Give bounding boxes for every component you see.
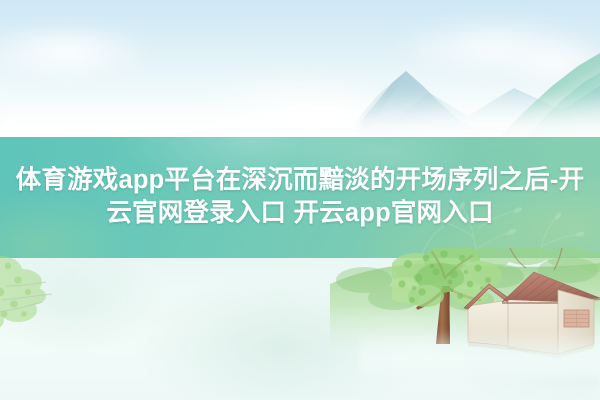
scene-haze <box>360 330 600 376</box>
page-title: 体育游戏app平台在深沉而黯淡的开场序列之后-开 云官网登录入口 开云app官网… <box>0 164 600 230</box>
foliage-left <box>0 252 94 347</box>
screenshot-canvas: 体育游戏app平台在深沉而黯淡的开场序列之后-开 云官网登录入口 开云app官网… <box>0 0 600 400</box>
page-title-line-2: 云官网登录入口 开云app官网入口 <box>4 197 596 230</box>
page-title-line-1: 体育游戏app平台在深沉而黯淡的开场序列之后-开 <box>4 164 596 197</box>
